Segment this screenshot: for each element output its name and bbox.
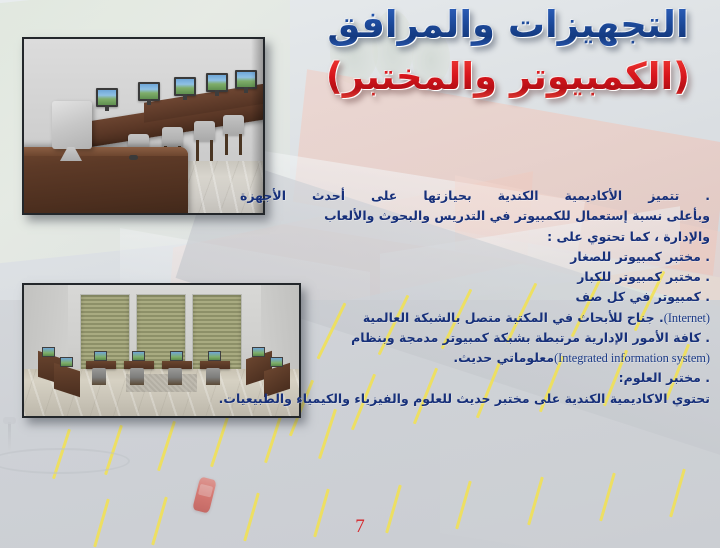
photo2-chair — [130, 368, 144, 385]
computer-lab-desks-photo — [22, 37, 265, 215]
photo2-chair — [92, 368, 106, 385]
title-line-secondary: (الكمبيوتر والمختبر) — [308, 56, 708, 100]
list-item-label: . جناح للأبحاث في المكتبة متصل بالشبكة ا… — [363, 310, 664, 325]
photo2-monitor — [208, 351, 221, 361]
photo2-monitor — [60, 357, 73, 367]
photo2-chair — [168, 368, 182, 385]
page-number: 7 — [0, 516, 720, 538]
photo2-chair — [206, 368, 220, 385]
slide-body-text: . تتميز الأكاديمية الكندية بحيازتها على … — [240, 186, 710, 409]
photo2-monitor — [94, 351, 107, 361]
title-line-primary: التجهيزات والمرافق — [308, 4, 708, 48]
photo2-monitor — [42, 347, 55, 357]
photo2-monitor — [170, 351, 183, 361]
photo1-monitor — [138, 82, 160, 101]
list-item: . كافة الأمور الإدارية مرتبطة بشبكة كمبي… — [240, 328, 710, 348]
presentation-slide: التجهيزات والمرافق (الكمبيوتر والمختبر) … — [0, 0, 720, 548]
list-item: . مختبر كمبيوتر للصغار — [240, 247, 710, 267]
photo1-monitor — [96, 88, 118, 107]
closing-line: تحتوي الاكاديمية الكندية على مختبر حديث … — [240, 389, 710, 409]
photo1-monitor — [174, 77, 196, 96]
photo1-chair — [223, 115, 244, 155]
list-item: . مختبر العلوم: — [240, 368, 710, 388]
list-item: . مختبر كمبيوتر للكبار — [240, 267, 710, 287]
photo1-foreground-monitor — [52, 101, 92, 149]
photo1-mouse — [129, 155, 138, 160]
photo1-monitor — [206, 73, 228, 92]
paragraph-line-1: . تتميز الأكاديمية الكندية بحيازتها على … — [240, 186, 710, 206]
list-item-latin-term: (Integrated information system) — [554, 351, 710, 365]
photo1-chair — [194, 121, 215, 161]
photo1-foreground-desk — [22, 147, 188, 215]
slide-title: التجهيزات والمرافق (الكمبيوتر والمختبر) — [308, 4, 708, 99]
list-item-label: معلوماتي حديث. — [453, 350, 554, 365]
paragraph-line-3: والإدارة ، كما تحتوي على : — [240, 227, 710, 247]
paragraph-line-2: وبأعلى نسبة إستعمال للكمبيوتر في التدريس… — [240, 206, 710, 226]
list-item: (Internet). جناح للأبحاث في المكتبة متصل… — [240, 308, 710, 328]
list-item: (Integrated information system)معلوماتي … — [240, 348, 710, 368]
photo2-monitor — [132, 351, 145, 361]
list-item: . كمبيوتر في كل صف — [240, 287, 710, 307]
list-item-latin-term: (Internet) — [664, 311, 710, 325]
